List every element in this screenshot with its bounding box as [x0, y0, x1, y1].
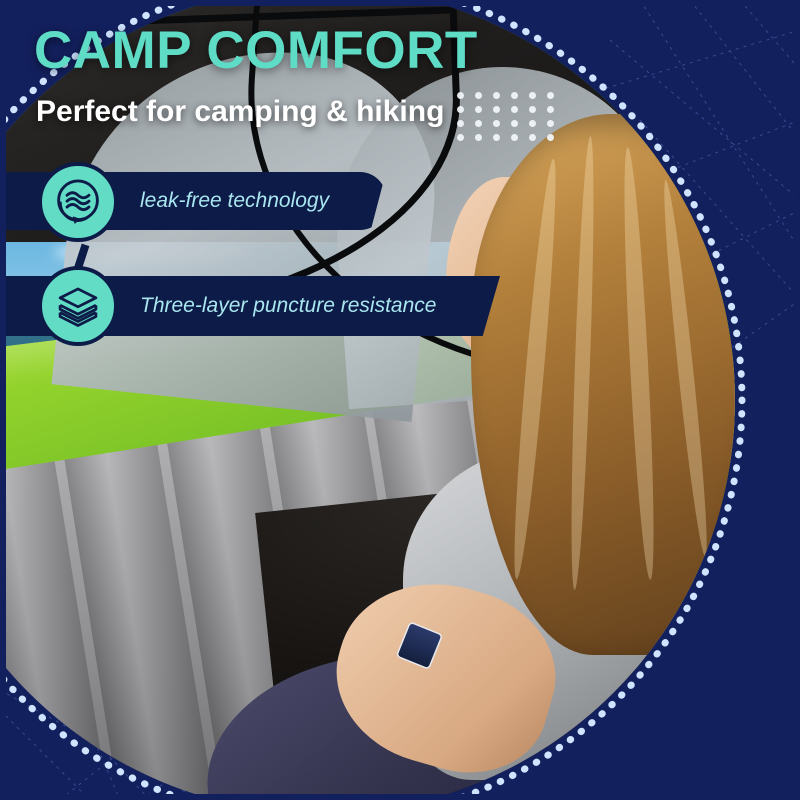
water-waves-recycle-icon [38, 162, 118, 242]
dot-grid-decoration [457, 92, 563, 140]
feature-badge-leak-free[interactable]: leak-free technology [6, 172, 396, 230]
page-title: CAMP COMFORT [34, 20, 478, 81]
three-layers-stack-icon [38, 266, 118, 346]
feature-badge-three-layer[interactable]: Three-layer puncture resistance [6, 276, 506, 336]
product-poster: CAMP COMFORT Perfect for camping & hikin… [0, 0, 800, 800]
page-subtitle: Perfect for camping & hiking [36, 95, 444, 129]
badge-label: Three-layer puncture resistance [140, 294, 436, 318]
badge-label: leak-free technology [140, 189, 329, 213]
three-layers-stack-glyph [52, 280, 104, 332]
water-waves-recycle-glyph [51, 175, 105, 229]
